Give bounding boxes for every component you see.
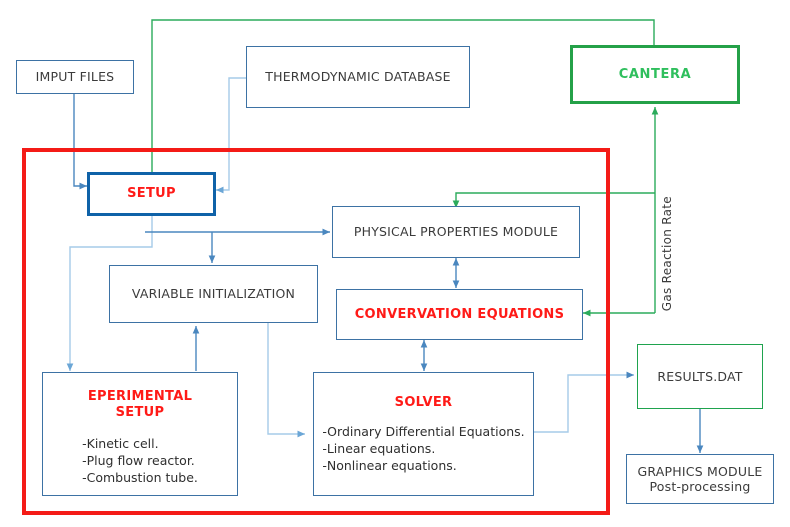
node-graphics-module[interactable]: GRAPHICS MODULE Post-processing (626, 454, 774, 504)
node-physical-properties-module-label: PHYSICAL PROPERTIES MODULE (354, 224, 558, 239)
node-thermodynamic-database-label: THERMODYNAMIC DATABASE (265, 69, 450, 84)
node-setup-label: SETUP (127, 186, 176, 202)
node-results-dat[interactable]: RESULTS.DAT (637, 344, 763, 409)
node-cantera-label: CANTERA (619, 67, 692, 83)
flowchart-canvas: IMPUT FILES THERMODYNAMIC DATABASE CANTE… (0, 0, 790, 527)
node-results-dat-label: RESULTS.DAT (657, 369, 742, 384)
node-solver-bullets: -Ordinary Differential Equations. -Linea… (322, 423, 524, 475)
node-variable-initialization[interactable]: VARIABLE INITIALIZATION (109, 265, 318, 323)
node-thermodynamic-database[interactable]: THERMODYNAMIC DATABASE (246, 46, 470, 108)
node-setup[interactable]: SETUP (87, 172, 216, 216)
node-experimental-setup-label: EPERIMENTAL SETUP (88, 389, 192, 421)
node-input-files[interactable]: IMPUT FILES (16, 60, 134, 94)
node-solver-label: SOLVER (395, 395, 453, 411)
node-experimental-setup-bullets: -Kinetic cell. -Plug flow reactor. -Comb… (82, 435, 198, 487)
node-solver[interactable]: SOLVER -Ordinary Differential Equations.… (313, 372, 534, 496)
node-cantera[interactable]: CANTERA (570, 45, 740, 104)
node-graphics-module-label: GRAPHICS MODULE (638, 464, 763, 479)
edge-label-gas-reaction-rate: Gas Reaction Rate (660, 196, 674, 311)
node-conservation-equations-label: CONVERVATION EQUATIONS (355, 307, 565, 323)
node-experimental-setup[interactable]: EPERIMENTAL SETUP -Kinetic cell. -Plug f… (42, 372, 238, 496)
node-conservation-equations[interactable]: CONVERVATION EQUATIONS (336, 289, 583, 340)
node-variable-initialization-label: VARIABLE INITIALIZATION (132, 286, 295, 301)
node-input-files-label: IMPUT FILES (36, 69, 115, 84)
node-physical-properties-module[interactable]: PHYSICAL PROPERTIES MODULE (332, 206, 580, 258)
node-graphics-module-subtitle: Post-processing (649, 479, 750, 494)
